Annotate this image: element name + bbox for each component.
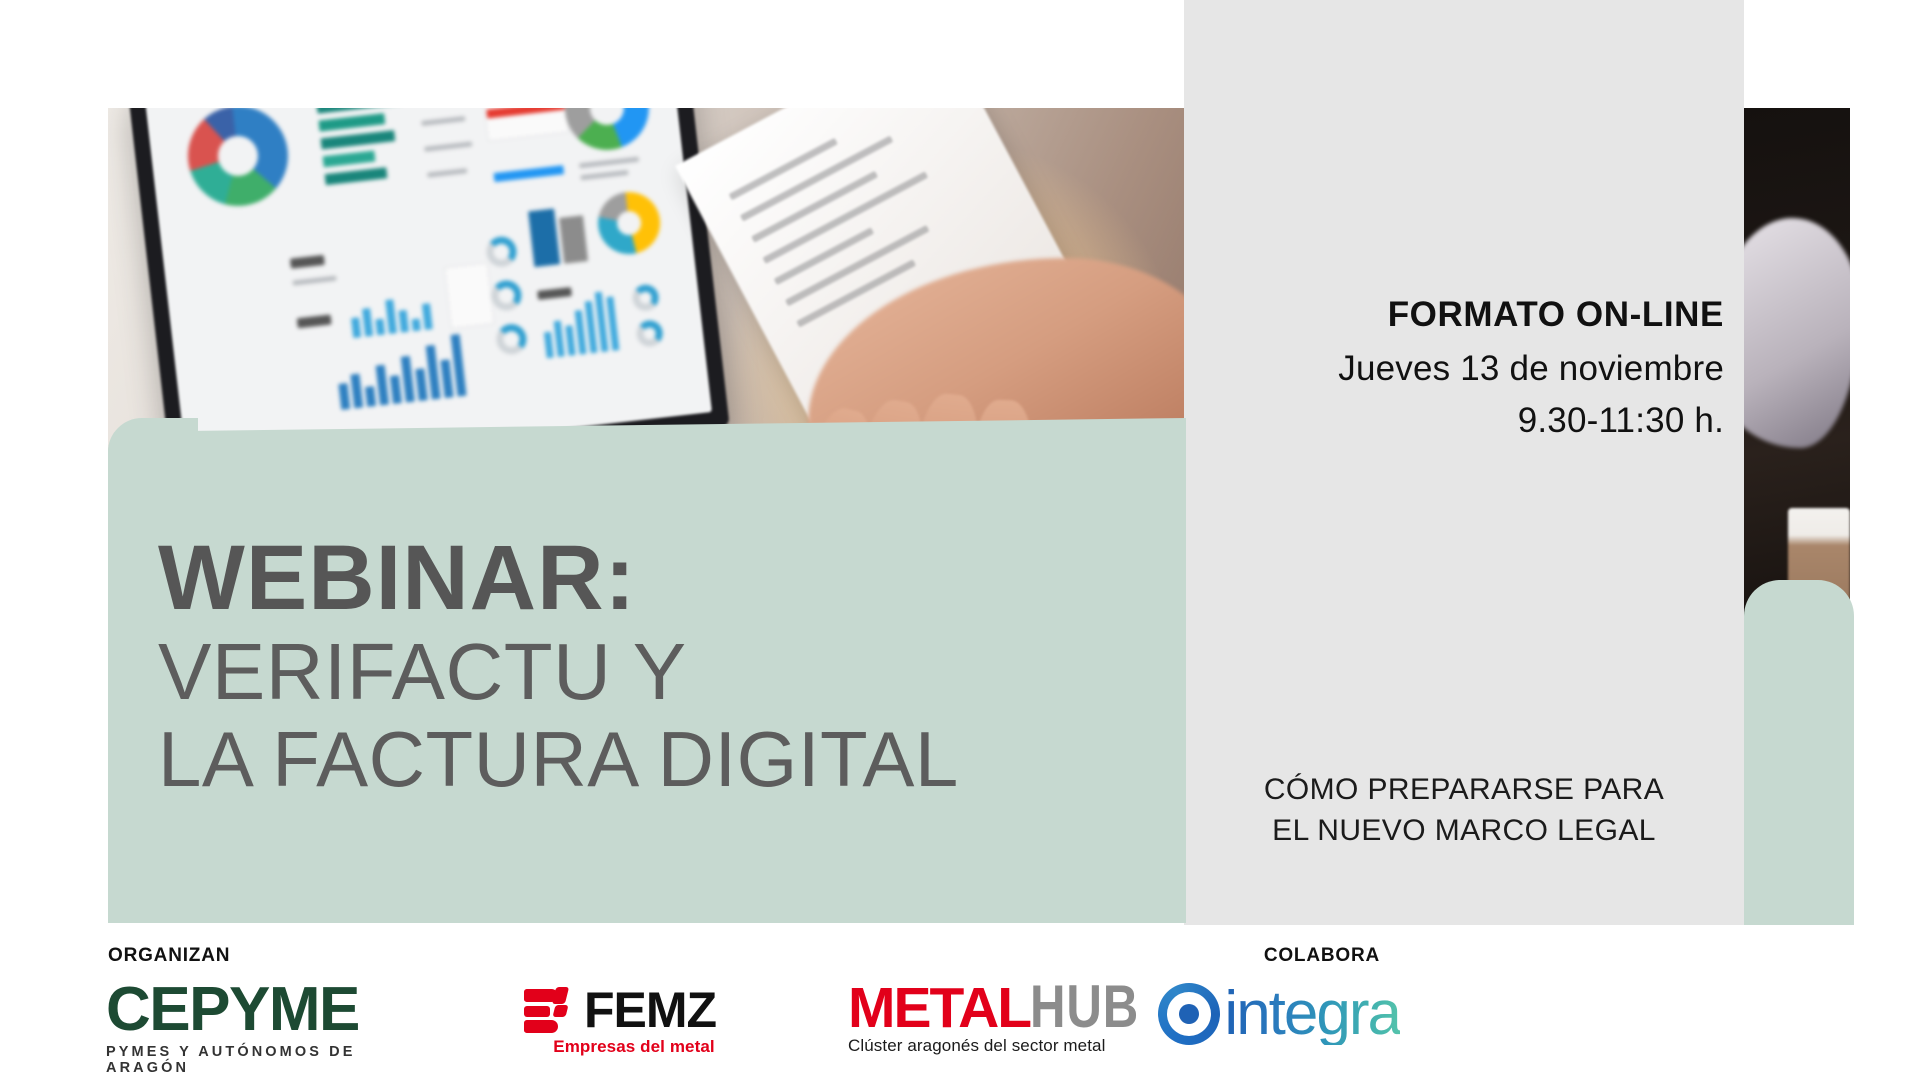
collaborator-label: COLABORA bbox=[1264, 945, 1380, 967]
title-line-1: WEBINAR: bbox=[158, 530, 1168, 627]
metalhub-wordmark-gray: HUB bbox=[1030, 981, 1139, 1033]
logo-integra[interactable]: integra bbox=[1158, 983, 1400, 1045]
logo-metalhub[interactable]: METAL HUB Clúster aragonés del sector me… bbox=[848, 981, 1168, 1056]
event-details: FORMATO ON-LINE Jueves 13 de noviembre 9… bbox=[1204, 295, 1724, 441]
title-line-2: VERIFACTU Y bbox=[158, 627, 1168, 717]
person-silhouette bbox=[1740, 218, 1850, 448]
logo-cepyme[interactable]: CEPYME PYMES Y AUTÓNOMOS DE ARAGÓN bbox=[106, 981, 406, 1076]
integra-wordmark: integra bbox=[1224, 983, 1400, 1045]
femz-tagline: Empresas del metal bbox=[524, 1037, 744, 1057]
mint-strip-right bbox=[1744, 580, 1854, 925]
subtitle-line-2: EL NUEVO MARCO LEGAL bbox=[1204, 811, 1724, 852]
mint-panel-corner bbox=[108, 418, 198, 508]
cepyme-tagline: PYMES Y AUTÓNOMOS DE ARAGÓN bbox=[106, 1044, 406, 1076]
organizers-label: ORGANIZAN bbox=[108, 945, 230, 967]
subtitle-line-1: CÓMO PREPARARSE PARA bbox=[1204, 770, 1724, 811]
webinar-poster: WEBINAR: VERIFACTU Y LA FACTURA DIGITAL … bbox=[0, 0, 1920, 1080]
integra-circle-icon bbox=[1158, 983, 1220, 1045]
logo-femz[interactable]: FEMZ Empresas del metal bbox=[524, 987, 744, 1057]
metalhub-wordmark-red: METAL bbox=[848, 984, 1030, 1033]
femz-wordmark: FEMZ bbox=[584, 988, 716, 1033]
cepyme-wordmark: CEPYME bbox=[106, 981, 406, 1040]
laptop-screen bbox=[145, 108, 711, 472]
event-subtitle: CÓMO PREPARARSE PARA EL NUEVO MARCO LEGA… bbox=[1204, 770, 1724, 852]
mint-strip-right-bottom bbox=[1744, 880, 1854, 925]
femz-mark-icon bbox=[524, 987, 574, 1033]
event-time: 9.30-11:30 h. bbox=[1204, 401, 1724, 441]
title-block: WEBINAR: VERIFACTU Y LA FACTURA DIGITAL bbox=[158, 530, 1168, 804]
event-date: Jueves 13 de noviembre bbox=[1204, 349, 1724, 389]
dashboard-graphic bbox=[145, 108, 711, 472]
event-format: FORMATO ON-LINE bbox=[1204, 295, 1724, 335]
footer: ORGANIZAN COLABORA CEPYME PYMES Y AUTÓNO… bbox=[0, 925, 1920, 1080]
title-line-3: LA FACTURA DIGITAL bbox=[158, 716, 1168, 803]
